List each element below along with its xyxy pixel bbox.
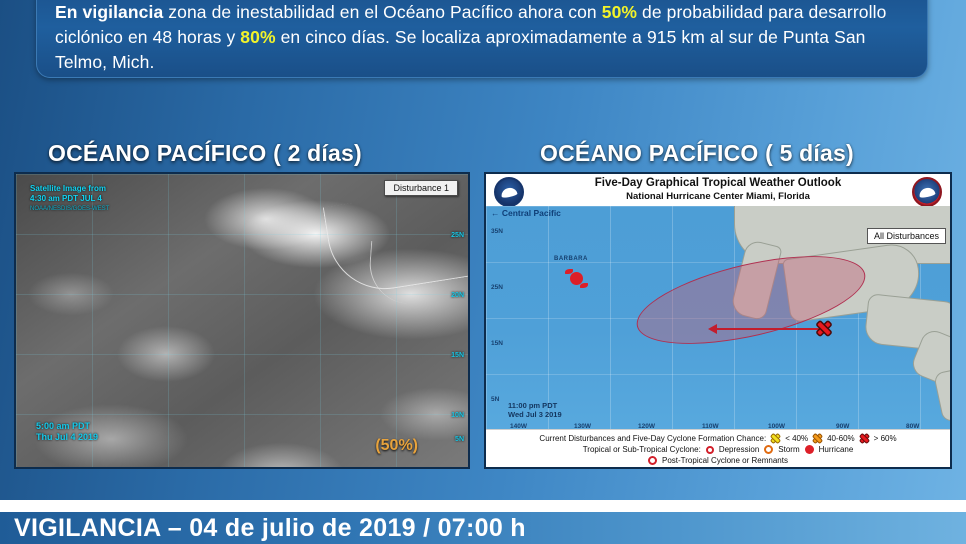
forecast-track-arrow (714, 328, 820, 330)
legend-post-tropical: Post-Tropical Cyclone or Remnants (662, 455, 788, 466)
sat-lat-tick-3: 10N (451, 412, 464, 419)
legend-formation-label: Current Disturbances and Five-Day Cyclon… (539, 433, 766, 444)
nhc-timestamp-line1: 11:00 pm PDT (508, 401, 562, 410)
x-marker-mid-icon (813, 434, 822, 443)
nhc-lat-tick-2: 15N (491, 340, 503, 347)
legend-row-formation-chance: Current Disturbances and Five-Day Cyclon… (486, 430, 950, 444)
legend-cyclone-label: Tropical or Sub-Tropical Cyclone: (583, 444, 701, 455)
alert-banner: En vigilancia zona de inestabilidad en e… (36, 0, 928, 78)
legend-chance-mid: 40-60% (827, 433, 855, 444)
sat-lat-tick-1: 20N (451, 292, 464, 299)
alert-probability-5d: 80% (240, 27, 275, 47)
hurricane-symbol-icon (805, 445, 814, 454)
nhc-subtitle: National Hurricane Center Miami, Florida (486, 191, 950, 202)
alert-probability-48h: 50% (602, 2, 637, 22)
satellite-source-line1: Satellite Image from (30, 184, 109, 194)
bottom-bar: VIGILANCIA – 04 de julio de 2019 / 07:00… (0, 512, 966, 544)
nhc-title: Five-Day Graphical Tropical Weather Outl… (486, 177, 950, 189)
nhc-map: ← Central Pacific All Disturbances 35N 2… (486, 206, 950, 432)
alert-text: En vigilancia zona de inestabilidad en e… (55, 0, 911, 75)
disturbance-tag: Disturbance 1 (384, 180, 458, 196)
satellite-source-line2: 4:30 am PDT JUL 4 (30, 194, 109, 204)
disturbance-x-marker-red (816, 321, 831, 336)
legend-row-post-tropical: Post-Tropical Cyclone or Remnants (486, 455, 950, 466)
nhc-timestamp-line2: Wed Jul 3 2019 (508, 410, 562, 419)
sat-lat-tick-0: 25N (451, 232, 464, 239)
satellite-probability-label: (50%) (375, 437, 418, 455)
sat-lat-tick-2: 15N (451, 352, 464, 359)
storm-symbol-icon (764, 445, 773, 454)
bottom-bar-text: VIGILANCIA – 04 de julio de 2019 / 07:00… (14, 514, 526, 543)
legend-hurricane: Hurricane (819, 444, 854, 455)
nhc-header: Five-Day Graphical Tropical Weather Outl… (486, 174, 950, 207)
national-weather-service-logo-icon (912, 177, 942, 207)
storm-name-label: BARBARA (554, 256, 588, 262)
satellite-source-sub: NOAA/NESDIS/GOES-WEST (30, 204, 109, 214)
x-marker-high-icon (860, 434, 869, 443)
legend-depression: Depression (719, 444, 759, 455)
alert-lead: En vigilancia (55, 2, 163, 22)
satellite-timestamp-line1: 5:00 am PDT (36, 421, 98, 432)
satellite-source-label: Satellite Image from 4:30 am PDT JUL 4 N… (30, 184, 109, 214)
legend-chance-high: > 60% (874, 433, 897, 444)
legend-chance-low: < 40% (785, 433, 808, 444)
alert-banner-wrap: En vigilancia zona de inestabilidad en e… (0, 0, 966, 86)
legend-storm: Storm (778, 444, 799, 455)
right-panel-title: OCÉANO PACÍFICO ( 5 días) (540, 140, 854, 167)
white-divider (0, 500, 966, 512)
nhc-timestamp: 11:00 pm PDT Wed Jul 3 2019 (508, 401, 562, 419)
satellite-image-panel: Satellite Image from 4:30 am PDT JUL 4 N… (14, 172, 470, 469)
alert-part1: zona de inestabilidad en el Océano Pacíf… (163, 2, 601, 22)
post-tropical-symbol-icon (648, 456, 657, 465)
central-pacific-link[interactable]: ← Central Pacific (491, 208, 561, 218)
slide-root: En vigilancia zona de inestabilidad en e… (0, 0, 966, 544)
satellite-timestamp-line2: Thu Jul 4 2019 (36, 432, 98, 443)
nhc-outlook-panel: Five-Day Graphical Tropical Weather Outl… (484, 172, 952, 469)
x-marker-low-icon (771, 434, 780, 443)
depression-symbol-icon (706, 446, 714, 454)
left-panel-title: OCÉANO PACÍFICO ( 2 días) (48, 140, 362, 167)
nhc-legend: Current Disturbances and Five-Day Cyclon… (486, 429, 950, 467)
satellite-timestamp: 5:00 am PDT Thu Jul 4 2019 (36, 421, 98, 443)
all-disturbances-button[interactable]: All Disturbances (867, 228, 946, 244)
legend-row-cyclone-types: Tropical or Sub-Tropical Cyclone: Depres… (486, 444, 950, 455)
nhc-lat-tick-0: 35N (491, 228, 503, 235)
nhc-lat-tick-3: 5N (491, 396, 499, 403)
sat-lat-tick-4: 5N (455, 436, 464, 443)
hurricane-symbol-barbara (570, 272, 583, 285)
nhc-lat-tick-1: 25N (491, 284, 503, 291)
